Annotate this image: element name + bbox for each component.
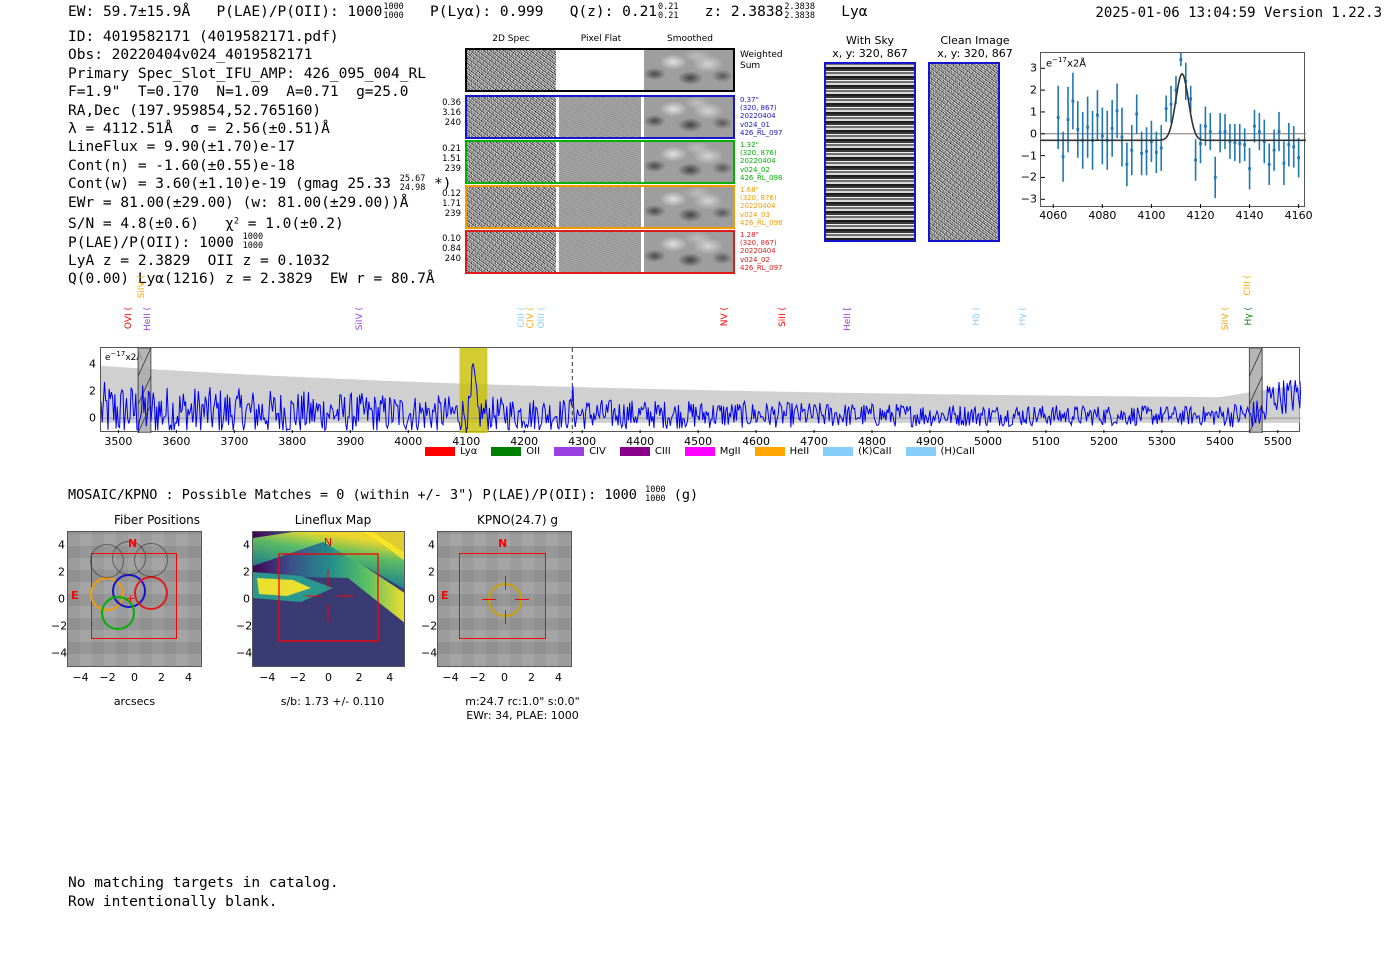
col-title-2dspec: 2D Spec bbox=[465, 34, 557, 44]
legend-swatch bbox=[425, 447, 455, 456]
legend-item: Lyα bbox=[425, 446, 477, 457]
fiber-positions-image: + N E bbox=[67, 531, 202, 667]
panel-ytick: −2 bbox=[236, 620, 250, 633]
panel-xtick: 0 bbox=[325, 671, 332, 684]
kpno-caption-line1: m:24.7 rc:1.0" s:0.0" bbox=[430, 695, 615, 709]
panel-ytick: 2 bbox=[421, 565, 435, 578]
emission-line-label: HeII [ bbox=[843, 307, 853, 331]
info-ewr: EWr = 81.00(±29.00) (w: 81.00(±29.00))Å bbox=[68, 195, 408, 211]
full-spectrum-ytick: 4 bbox=[89, 358, 96, 371]
line-fit-ytick: 1 bbox=[1030, 105, 1037, 118]
fiber-row-stats: 0.211.51239 bbox=[423, 144, 461, 174]
panel-xtick: 4 bbox=[185, 671, 192, 684]
crosshair-v-bottom bbox=[505, 610, 506, 624]
line-fit-plot: e−17x2Å 406040804100412041404160−3−2−101… bbox=[1040, 52, 1305, 207]
legend-item: MgII bbox=[685, 446, 741, 457]
qz-range: 0.210.21 bbox=[658, 3, 678, 20]
clean-image-cutout bbox=[928, 62, 1000, 242]
panel-xtick: −4 bbox=[442, 671, 458, 684]
info-cont-w: Cont(w) = 3.60(±1.10)e-19 (gmag 25.33 25… bbox=[68, 176, 452, 192]
panel-ytick: 4 bbox=[236, 538, 250, 551]
emission-line-label: OIII ( bbox=[537, 307, 547, 328]
full-spectrum-ytick: 2 bbox=[89, 385, 96, 398]
panel-xtick: 2 bbox=[356, 671, 363, 684]
weighted-sum-2dspec bbox=[467, 50, 556, 90]
fiber-row-stats: 0.121.71239 bbox=[423, 189, 461, 219]
fiber-2dspec bbox=[467, 142, 556, 182]
legend-label: CIV bbox=[589, 446, 606, 457]
legend-label: CIII bbox=[655, 446, 671, 457]
plae-value: 1000 bbox=[347, 4, 382, 20]
line-fit-ytick: −1 bbox=[1021, 149, 1037, 162]
panel-caption-lineflux-map: s/b: 1.73 +/- 0.110 bbox=[245, 695, 420, 709]
fiber-pixelflat bbox=[559, 187, 641, 227]
ew-value: 59.7±15.9Å bbox=[103, 4, 190, 20]
info-obs: Obs: 20220404v024_4019582171 bbox=[68, 47, 312, 63]
bottom-note-line1: No matching targets in catalog. bbox=[68, 875, 339, 891]
fiber-circle bbox=[134, 576, 168, 610]
panel-ytick: 2 bbox=[236, 565, 250, 578]
with-sky-cutout bbox=[824, 62, 916, 242]
panel-ytick: 0 bbox=[51, 593, 65, 606]
panel-ytick: −4 bbox=[51, 647, 65, 660]
timestamp-version: 2025-01-06 13:04:59 Version 1.22.3 bbox=[1095, 5, 1382, 21]
fiber-smoothed bbox=[644, 187, 733, 227]
fiber-smoothed bbox=[644, 97, 733, 137]
mosaic-header-text: MOSAIC/KPNO : Possible Matches = 0 (with… bbox=[68, 487, 645, 503]
fiber-row bbox=[465, 185, 735, 229]
emission-line-label: Hδ ( bbox=[972, 307, 982, 326]
crosshair-h-right bbox=[515, 599, 529, 600]
fiber-pixelflat bbox=[559, 97, 641, 137]
legend-swatch bbox=[491, 447, 521, 456]
info-plae: P(LAE)/P(OII): 1000 10001000 bbox=[68, 235, 263, 251]
line-fit-xtick: 4060 bbox=[1039, 209, 1067, 222]
panel-ytick: 0 bbox=[236, 593, 250, 606]
col-title-pixelflat: Pixel Flat bbox=[558, 34, 644, 44]
emission-line-label: SiIV ( bbox=[1221, 307, 1231, 330]
z-value: 2.3838 bbox=[731, 4, 783, 20]
with-sky-label: With Sky bbox=[820, 34, 920, 47]
bottom-note-line2: Row intentionally blank. bbox=[68, 894, 278, 910]
fiber-2dspec bbox=[467, 187, 556, 227]
gmag-range: 25.6724.98 bbox=[400, 175, 426, 192]
panel-xtick: −4 bbox=[259, 671, 275, 684]
panel-xtick: 4 bbox=[386, 671, 393, 684]
emission-line-label: CIII ( bbox=[1243, 275, 1253, 296]
full-spectrum-ytick: 0 bbox=[89, 412, 96, 425]
info-redshifts: LyA z = 2.3829 OII z = 0.1032 bbox=[68, 253, 330, 269]
weighted-sum-smoothed bbox=[644, 50, 733, 90]
panel-caption-fiber-positions: arcsecs bbox=[62, 695, 207, 709]
panel-xtick: 4 bbox=[555, 671, 562, 684]
mosaic-plae-range: 10001000 bbox=[645, 486, 665, 503]
fiber-row bbox=[465, 95, 735, 139]
emission-line-label: NV ( bbox=[720, 307, 730, 326]
qz-label: Q(z): bbox=[570, 4, 614, 20]
line-fit-xtick: 4100 bbox=[1137, 209, 1165, 222]
fiber-pixelflat bbox=[559, 232, 641, 272]
info-plae-range: 10001000 bbox=[243, 233, 263, 250]
plae-range: 10001000 bbox=[383, 3, 403, 20]
line-fit-xtick: 4160 bbox=[1285, 209, 1313, 222]
panel-ytick: 2 bbox=[51, 565, 65, 578]
plae-label: P(LAE)/P(OII): bbox=[216, 4, 338, 20]
z-label: z: bbox=[705, 4, 722, 20]
emission-line-label: Hγ ( bbox=[1018, 307, 1028, 325]
panel-ytick: 4 bbox=[51, 538, 65, 551]
compass-east: E bbox=[441, 589, 449, 602]
legend-swatch bbox=[620, 447, 650, 456]
info-sn: S/N = 4.8(±0.6) χ2 = 1.0(±0.2) bbox=[68, 216, 344, 232]
full-spectrum-svg bbox=[101, 348, 1301, 433]
info-lambda: λ = 4112.51Å σ = 2.56(±0.51)Å bbox=[68, 121, 330, 137]
panel-caption-kpno: m:24.7 rc:1.0" s:0.0" EWr: 34, PLAE: 100… bbox=[430, 695, 615, 723]
fiber-row-stats: 0.363.16240 bbox=[423, 98, 461, 128]
line-fit-xtick: 4140 bbox=[1236, 209, 1264, 222]
line-fit-xtick: 4080 bbox=[1088, 209, 1116, 222]
kpno-image: N E bbox=[437, 531, 572, 667]
fiber-2dspec bbox=[467, 97, 556, 137]
line-fit-ytick: −2 bbox=[1021, 171, 1037, 184]
compass-north: N bbox=[498, 537, 507, 550]
legend-swatch bbox=[755, 447, 785, 456]
fiber-row-stats: 0.100.84240 bbox=[423, 234, 461, 264]
legend-swatch bbox=[906, 447, 936, 456]
fiber-row bbox=[465, 230, 735, 274]
legend-label: HeII bbox=[790, 446, 810, 457]
emission-line-label: HeII ( bbox=[143, 307, 153, 331]
panel-ytick: −2 bbox=[421, 620, 435, 633]
crosshair-h-left bbox=[482, 599, 496, 600]
legend-label: Lyα bbox=[460, 446, 477, 457]
qz-value: 0.21 bbox=[622, 4, 657, 20]
fiber-smoothed bbox=[644, 232, 733, 272]
emission-line-label: SiIV ( bbox=[355, 307, 365, 330]
fiber-row-meta: 0.37"(320, 867)20220404v024_01426_RL_097 bbox=[740, 96, 812, 137]
weighted-sum-pixelflat bbox=[559, 50, 641, 90]
info-id: ID: 4019582171 (4019582171.pdf) bbox=[68, 29, 339, 45]
2d-spec-panel: 2D Spec Pixel Flat Smoothed Weighted Sum… bbox=[425, 34, 815, 249]
info-cont-n: Cont(n) = -1.60(±0.55)e-18 bbox=[68, 158, 295, 174]
panel-xtick: −2 bbox=[290, 671, 306, 684]
line-fit-ytick: −3 bbox=[1021, 193, 1037, 206]
legend-item: OII bbox=[491, 446, 540, 457]
mosaic-header-suffix: (g) bbox=[666, 487, 699, 503]
info-seeing: F=1.9" T=0.170 N=1.09 A=0.71 g=25.0 bbox=[68, 84, 408, 100]
ew-label: EW: bbox=[68, 4, 94, 20]
plya-value: 0.999 bbox=[500, 4, 544, 20]
lineflux-map-image: N bbox=[252, 531, 405, 667]
info-primary-spec: Primary Spec_Slot_IFU_AMP: 426_095_004_R… bbox=[68, 66, 426, 82]
fiber-row bbox=[465, 140, 735, 184]
info-lineflux: LineFlux = 9.90(±1.70)e-17 bbox=[68, 139, 295, 155]
with-sky-coords: x, y: 320, 867 bbox=[820, 47, 920, 60]
emission-line-label: OVI ( bbox=[124, 307, 134, 329]
line-fit-ytick: 2 bbox=[1030, 84, 1037, 97]
with-sky-title: With Sky x, y: 320, 867 bbox=[820, 34, 920, 60]
crosshair-v-top bbox=[505, 576, 506, 590]
legend-label: MgII bbox=[720, 446, 741, 457]
panel-xtick: −2 bbox=[469, 671, 485, 684]
emission-line-legend: LyαOIICIVCIIIMgIIHeII(K)CaII(H)CaII bbox=[0, 446, 1400, 457]
panel-title-lineflux-map: Lineflux Map bbox=[248, 513, 418, 527]
legend-item: HeII bbox=[755, 446, 810, 457]
legend-swatch bbox=[685, 447, 715, 456]
svg-text:N: N bbox=[324, 536, 332, 549]
clean-image-title: Clean Image x, y: 320, 867 bbox=[920, 34, 1030, 60]
plya-label: P(Lyα): bbox=[430, 4, 491, 20]
source-marker: + bbox=[126, 593, 135, 604]
compass-east: E bbox=[71, 589, 79, 602]
line-fit-ytick: 3 bbox=[1030, 62, 1037, 75]
fiber-smoothed bbox=[644, 142, 733, 182]
panel-ytick: −4 bbox=[421, 647, 435, 660]
panel-xtick: −2 bbox=[99, 671, 115, 684]
line-fit-xtick: 4120 bbox=[1186, 209, 1214, 222]
panel-xtick: −4 bbox=[72, 671, 88, 684]
line-fit-ytick: 0 bbox=[1030, 127, 1037, 140]
clean-image-coords: x, y: 320, 867 bbox=[920, 47, 1030, 60]
summary-header: EW: 59.7±15.9Å P(LAE)/P(OII): 1000100010… bbox=[68, 3, 867, 20]
z-range: 2.38382.3838 bbox=[784, 3, 815, 20]
legend-item: (K)CaII bbox=[823, 446, 891, 457]
kpno-caption-line2: EWr: 34, PLAE: 1000 bbox=[430, 709, 615, 723]
panel-xtick: 0 bbox=[501, 671, 508, 684]
info-q: Q(0.00) Lyα(1216) z = 2.3829 EW r = 80.7… bbox=[68, 271, 435, 287]
panel-ytick: 0 bbox=[421, 593, 435, 606]
panel-xtick: 0 bbox=[131, 671, 138, 684]
info-radec: RA,Dec (197.959854,52.765160) bbox=[68, 103, 321, 119]
legend-label: (K)CaII bbox=[858, 446, 891, 457]
weighted-sum-row bbox=[465, 48, 735, 92]
panel-title-kpno: KPNO(24.7) g bbox=[430, 513, 605, 527]
compass-north: N bbox=[128, 537, 137, 550]
panel-title-fiber-positions: Fiber Positions bbox=[62, 513, 252, 527]
fiber-circle-faint bbox=[134, 543, 168, 577]
full-spectrum-plot: e−17x2Å 35003600370038003900400041004200… bbox=[100, 347, 1300, 432]
emission-line-label: Hγ ( bbox=[1244, 307, 1254, 325]
mosaic-header: MOSAIC/KPNO : Possible Matches = 0 (with… bbox=[68, 486, 698, 503]
panel-xtick: 2 bbox=[158, 671, 165, 684]
panel-ytick: −4 bbox=[236, 647, 250, 660]
emission-line-label: SiIV ( bbox=[137, 275, 147, 298]
legend-swatch bbox=[554, 447, 584, 456]
emission-line-label: SiII ( bbox=[778, 307, 788, 327]
legend-label: OII bbox=[526, 446, 540, 457]
clean-image-label: Clean Image bbox=[920, 34, 1030, 47]
legend-swatch bbox=[823, 447, 853, 456]
fiber-2dspec bbox=[467, 232, 556, 272]
fiber-row-meta: 1.32"(320, 876)20220404v024_02426_RL_098 bbox=[740, 141, 812, 182]
weighted-sum-label: Weighted Sum bbox=[740, 50, 812, 72]
panel-ytick: 4 bbox=[421, 538, 435, 551]
col-title-smoothed: Smoothed bbox=[645, 34, 735, 44]
bottom-note: No matching targets in catalog. Row inte… bbox=[68, 874, 339, 912]
lineflux-map-svg: N bbox=[253, 532, 405, 667]
source-info-block: ID: 4019582171 (4019582171.pdf) Obs: 202… bbox=[68, 28, 452, 289]
panel-xtick: 2 bbox=[528, 671, 535, 684]
panel-ytick: −2 bbox=[51, 620, 65, 633]
legend-item: CIV bbox=[554, 446, 606, 457]
legend-label: (H)CaII bbox=[941, 446, 975, 457]
fiber-pixelflat bbox=[559, 142, 641, 182]
line-name: Lyα bbox=[841, 4, 867, 20]
emission-line-label: CIV ( bbox=[526, 307, 536, 328]
line-fit-svg bbox=[1041, 53, 1306, 208]
legend-item: (H)CaII bbox=[906, 446, 975, 457]
fiber-row-meta: 1.28"(320, 867)20220404v024_02426_RL_097 bbox=[740, 231, 812, 272]
fiber-row-meta: 1.68"(320, 876)20220404v024_03426_RL_098 bbox=[740, 186, 812, 227]
legend-item: CIII bbox=[620, 446, 671, 457]
